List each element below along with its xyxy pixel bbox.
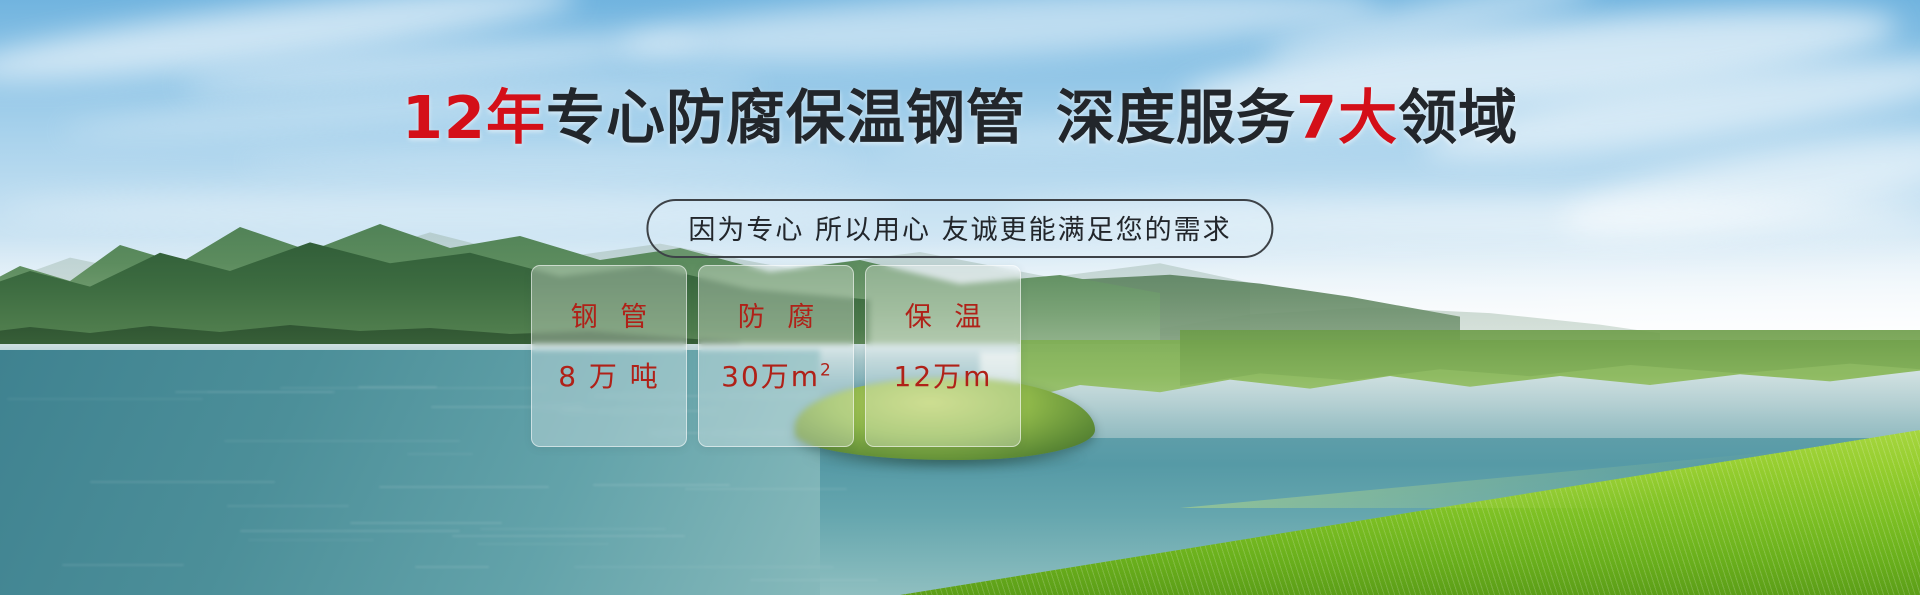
headline-years-unit: 年 (486, 83, 546, 152)
water-ripple (379, 486, 549, 488)
stat-card-value-text: 30万m (721, 360, 820, 393)
water-ripple (90, 481, 275, 483)
stat-card-title: 防 腐 (731, 295, 822, 334)
stat-card-value-text: 8 万 吨 (558, 360, 660, 393)
water-ripple (248, 539, 374, 541)
water-ripple (407, 453, 473, 455)
water-ripple (224, 440, 460, 442)
water-ripple (227, 505, 349, 507)
water-ripple (240, 530, 461, 532)
hero-banner: 12年专心防腐保温钢管深度服务7大领域 因为专心 所以用心 友诚更能满足您的需求… (0, 0, 1920, 595)
stat-card-value-superscript: 2 (820, 361, 831, 381)
cloud-wisp (619, 0, 1381, 76)
water-ripple (415, 566, 489, 568)
water-ripple (685, 488, 848, 490)
subtitle-text: 因为专心 所以用心 友诚更能满足您的需求 (688, 215, 1231, 246)
cloud-wisp (240, 150, 860, 174)
headline-service-text: 深度服务 (1056, 83, 1296, 152)
headline-fields-number: 7 (1296, 83, 1338, 152)
stat-card-insulation[interactable]: 保 温 12万m (865, 265, 1021, 447)
stat-card-anticorrosion[interactable]: 防 腐 30万m2 (698, 265, 854, 447)
water-ripple (280, 387, 548, 389)
stat-card-group: 钢 管 8 万 吨 防 腐 30万m2 保 温 12万m (531, 265, 1021, 447)
stat-card-value: 12万m (894, 355, 993, 395)
water-ripple (480, 528, 666, 530)
stat-card-value: 30万m2 (721, 355, 831, 395)
water-ripple (62, 564, 184, 566)
water-ripple (7, 398, 202, 400)
water-ripple (350, 522, 502, 524)
headline-years-number: 12 (402, 83, 486, 152)
subtitle-pill: 因为专心 所以用心 友诚更能满足您的需求 (646, 199, 1273, 258)
water-ripple (593, 484, 730, 486)
water-ripple (452, 535, 685, 537)
stat-card-title: 保 温 (898, 295, 989, 334)
stat-card-steel-pipe[interactable]: 钢 管 8 万 吨 (531, 265, 687, 447)
stat-card-value: 8 万 吨 (558, 355, 660, 395)
headline-main-text: 专心防腐保温钢管 (546, 83, 1026, 152)
headline-fields-unit: 大 (1338, 83, 1398, 152)
water-ripple (175, 391, 335, 393)
stat-card-value-text: 12万m (894, 360, 993, 393)
headline-fields-text: 领域 (1398, 83, 1518, 152)
water-ripple (477, 543, 608, 545)
headline: 12年专心防腐保温钢管深度服务7大领域 (0, 88, 1920, 147)
water-ripple (750, 579, 878, 581)
stat-card-title: 钢 管 (564, 295, 655, 334)
water-ripple (574, 566, 834, 568)
